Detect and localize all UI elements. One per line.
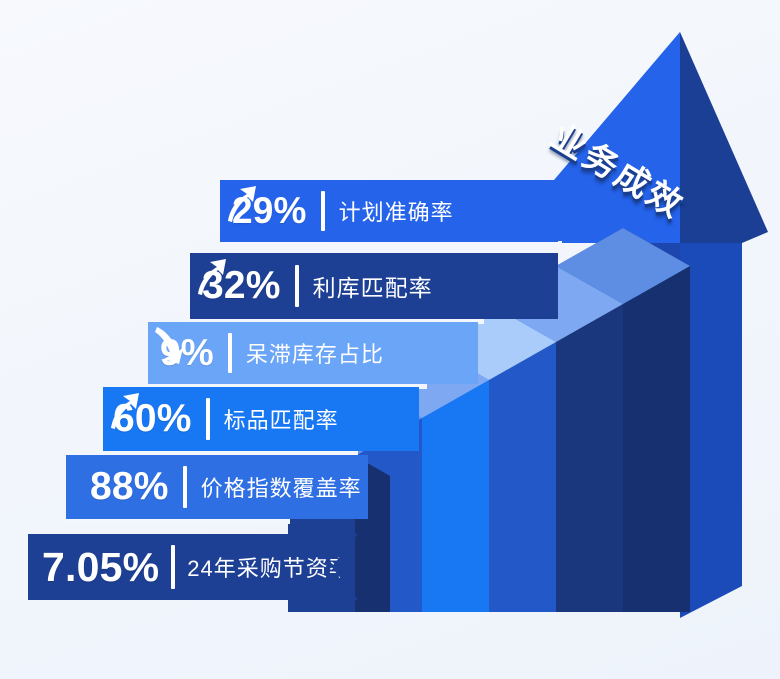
infographic-canvas: 业务成效 29% 计划准确率 32% 利库匹配率 9% 呆滞库存占比 60% 标… [0,0,780,679]
metric-label: 价格指数覆盖率 [201,471,362,503]
divider [228,333,232,373]
arrow-down-icon [148,322,188,366]
divider [206,398,210,440]
metric-bar-plan-accuracy[interactable]: 29% 计划准确率 [220,180,558,242]
metric-bar-standard-product-match[interactable]: 60% 标品匹配率 [103,387,419,451]
divider [321,191,325,231]
metric-bar-price-index-coverage[interactable]: 88% 价格指数覆盖率 [66,455,368,519]
metric-value: 88% [90,465,169,509]
arrow-up-icon [103,387,143,431]
metric-value: 7.05% [42,544,159,591]
arrow-up-icon [220,180,260,224]
metric-label: 利库匹配率 [313,269,433,303]
metric-label: 24年采购节资率 [187,551,351,583]
metric-bar-procurement-savings[interactable]: 7.05% 24年采购节资率 [28,534,358,600]
metric-bar-inventory-match[interactable]: 32% 利库匹配率 [190,253,558,319]
metric-label: 标品匹配率 [224,403,339,435]
arrow-up-icon [190,253,230,297]
arrow-head-dark-wing [680,32,768,243]
divider [295,265,299,307]
metric-bar-stagnant-inventory[interactable]: 9% 呆滞库存占比 [148,322,478,384]
metric-label: 呆滞库存占比 [246,337,384,369]
divider [183,466,187,508]
divider [171,545,175,589]
metric-label: 计划准确率 [339,195,454,227]
